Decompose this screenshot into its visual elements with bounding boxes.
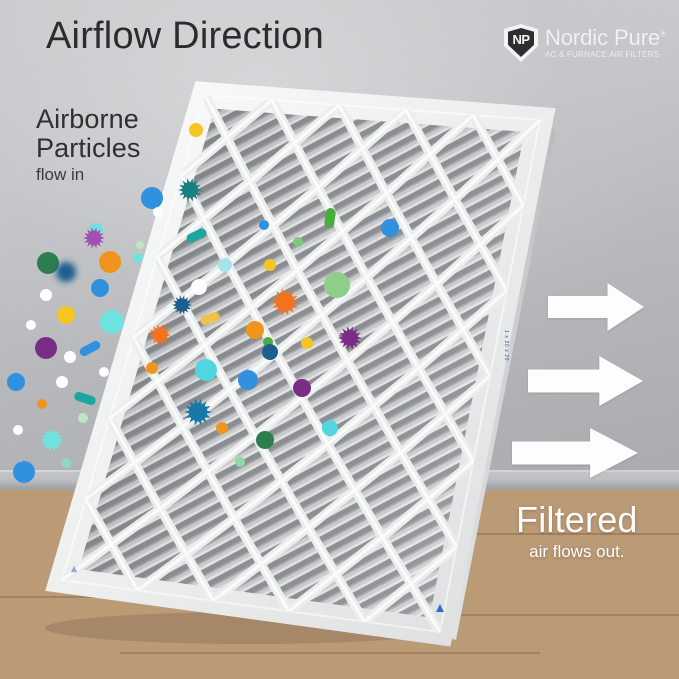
caption-air-flows-out: air flows out. [516, 543, 638, 560]
caption-filtered: Filtered [516, 502, 638, 538]
airflow-arrow-1 [548, 283, 644, 331]
product-infographic: Airflow Direction NP Nordic Pure® AC & F… [0, 0, 679, 679]
filtered-air-caption: Filtered air flows out. [516, 502, 638, 560]
airflow-arrow-2 [528, 356, 643, 406]
airflow-arrow-3 [512, 428, 638, 478]
airflow-arrows [0, 0, 679, 679]
